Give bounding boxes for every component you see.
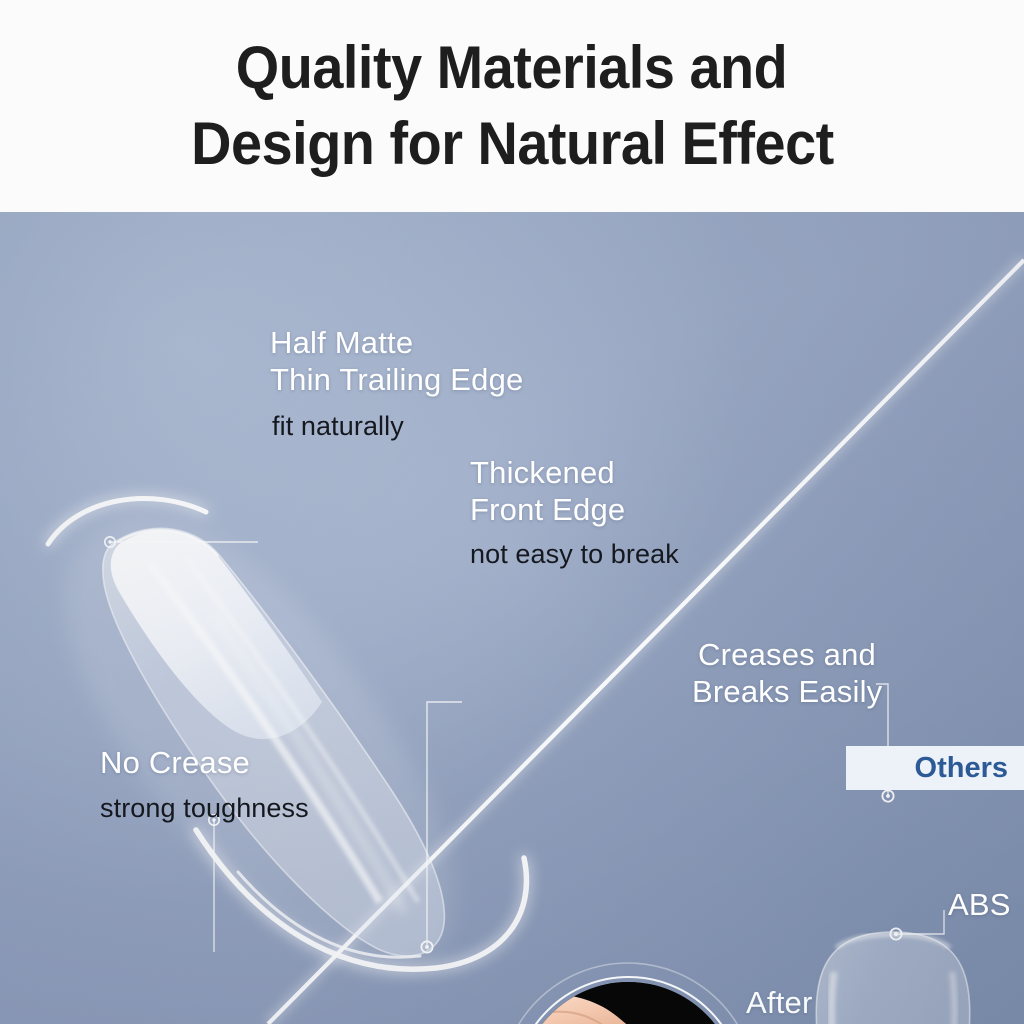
header-banner: Quality Materials and Design for Natural… [0, 0, 1024, 212]
callout-title-after-bend: After Bend [746, 984, 866, 1024]
callout-subtitle-thickened-front-edge: not easy to break [470, 538, 679, 570]
infographic-page: Quality Materials and Design for Natural… [0, 0, 1024, 1024]
inset-ring-border [513, 976, 744, 1024]
callout-title-creases-breaks: Creases and Breaks Easily [692, 636, 876, 710]
callout-title-no-crease: No Crease [100, 744, 250, 781]
after-bend-photo-inset [513, 976, 744, 1024]
callout-subtitle-no-crease: strong toughness [100, 792, 309, 824]
callout-title-abs: ABS [948, 886, 1011, 923]
headline-line-2: Design for Natural Effect [191, 106, 834, 182]
competitor-badge-others: Others [846, 746, 1024, 790]
callout-title-thickened-front-edge: Thickened Front Edge [470, 454, 625, 528]
competitor-badge-label: Others [915, 752, 1008, 785]
callout-subtitle-half-matte: fit naturally [272, 410, 404, 442]
callout-lines-right [876, 684, 944, 940]
callout-title-half-matte: Half Matte Thin Trailing Edge [270, 324, 523, 398]
modelones-nail-graphic [48, 498, 526, 971]
headline-line-1: Quality Materials and [236, 30, 788, 106]
comparison-panel: Half Matte Thin Trailing Edge fit natura… [0, 212, 1024, 1024]
